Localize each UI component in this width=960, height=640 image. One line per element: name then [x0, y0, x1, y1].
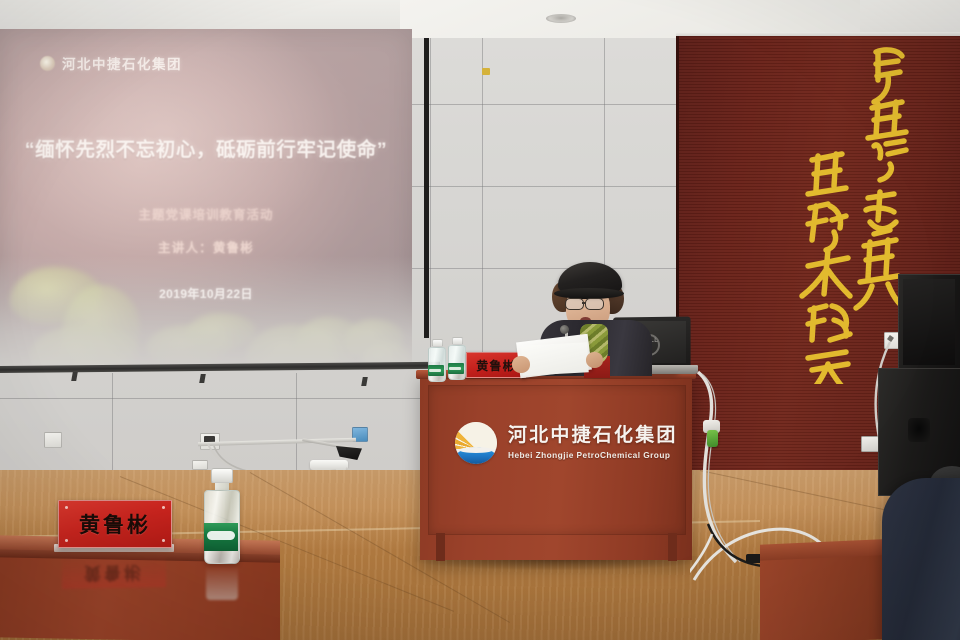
hand — [586, 352, 603, 368]
nameplate-screw — [162, 539, 165, 542]
sun-rays-icon — [455, 422, 497, 449]
bottle-label — [448, 363, 464, 374]
bottle-body — [204, 490, 240, 564]
projection-screen: 河北中捷石化集团 “缅怀先烈不忘初心，砥砺前行牢记使命” 主题党课培训教育活动 … — [0, 29, 412, 366]
foreground-nameplate: 黄鲁彬 — [58, 500, 172, 548]
nameplate-screw — [65, 539, 68, 542]
bottle-label — [204, 523, 238, 551]
slide-logo: 河北中捷石化集团 — [40, 53, 182, 73]
sunrise-logo-icon — [40, 56, 55, 71]
water-bottle — [428, 339, 446, 382]
nameplate-reflection-text: 黄鲁彬 — [62, 555, 166, 589]
wall-dark-slot — [424, 38, 429, 338]
bottle-cap — [432, 339, 443, 347]
wave-highlight-icon — [459, 447, 493, 453]
bottle-neck — [215, 483, 229, 490]
slide-logo-text: 河北中捷石化集团 — [62, 53, 182, 73]
nameplate-screw — [65, 506, 68, 509]
bottle-body — [428, 347, 446, 382]
slide-subtitle: 主题党课培训教育活动 — [0, 204, 412, 223]
slide-title: “缅怀先烈不忘初心，砥砺前行牢记使命” — [0, 133, 412, 162]
nameplate-screw — [162, 506, 165, 509]
sunrise-logo-icon — [455, 422, 497, 464]
green-plug-icon — [707, 430, 718, 447]
water-bottle — [204, 468, 240, 564]
bottle-body — [448, 345, 466, 380]
slide-bottom-fade — [0, 256, 412, 366]
eyeglasses-right-lens — [585, 298, 604, 310]
audience-member-jacket — [882, 478, 960, 640]
foreground-nameplate-text: 黄鲁彬 — [79, 509, 151, 539]
nameplate-reflection: 黄鲁彬 — [62, 555, 166, 589]
pa-speaker-grill — [903, 279, 955, 365]
bottle-label — [428, 365, 444, 376]
podium-leg — [436, 533, 445, 561]
recessed-downlight-icon — [546, 14, 576, 23]
speech-papers — [521, 342, 588, 375]
bottle-label-band — [449, 367, 461, 370]
microphone-head-icon — [560, 325, 569, 334]
bottle-cap — [211, 468, 233, 483]
water-bottle — [448, 337, 466, 380]
bottle-reflection — [206, 560, 238, 600]
podium-nameplate-text: 黄鲁彬 — [476, 357, 516, 374]
slide-presenter: 主讲人：黄鲁彬 — [0, 237, 412, 256]
hand — [512, 356, 530, 373]
bottle-label-band — [429, 369, 441, 372]
wall-indicator-light-icon — [482, 68, 490, 75]
eyeglasses-bridge — [582, 302, 586, 304]
eyeglasses-left-lens — [565, 298, 584, 310]
slide-date: 2019年10月22日 — [0, 285, 412, 302]
wall-seam — [412, 186, 678, 187]
bottle-cap — [452, 337, 463, 345]
bottle-label-band — [207, 531, 235, 540]
lecture-hall-photo: 河北中捷石化集团 “缅怀先烈不忘初心，砥砺前行牢记使命” 主题党课培训教育活动 … — [0, 0, 960, 640]
subwoofer-port — [908, 418, 930, 442]
